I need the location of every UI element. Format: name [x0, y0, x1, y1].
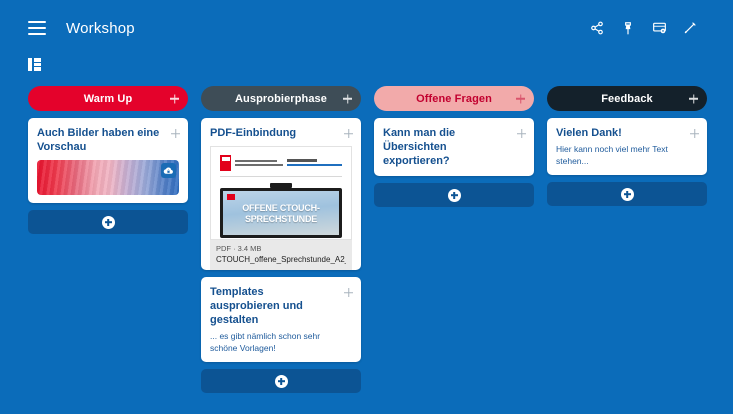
column-title: Warm Up [84, 93, 133, 105]
column-header-warm-up[interactable]: Warm Up [28, 86, 188, 111]
edit-pencil-icon[interactable] [681, 19, 699, 37]
move-icon[interactable] [517, 129, 526, 138]
card-title: Vielen Dank! [556, 126, 698, 140]
pdf-logo-row [220, 155, 342, 171]
card-image-preview[interactable] [37, 160, 179, 195]
share-icon[interactable] [588, 19, 606, 37]
move-icon[interactable] [689, 94, 698, 103]
add-card-button-offene-fragen[interactable] [374, 183, 534, 207]
pdf-preview-thumbnail[interactable]: OFFENE CTOUCH-SPRECHSTUNDE [210, 146, 352, 240]
column-title: Feedback [601, 93, 653, 105]
card-bilder-vorschau[interactable]: Auch Bilder haben eine Vorschau [28, 118, 188, 203]
topbar-actions [588, 19, 699, 37]
faculty-block [287, 155, 342, 166]
card-templates[interactable]: Templates ausprobieren und gestalten ...… [201, 277, 361, 362]
move-icon[interactable] [516, 94, 525, 103]
top-bar: Workshop [0, 0, 733, 56]
university-name [235, 155, 283, 166]
column-header-ausprobierphase[interactable]: Ausprobierphase [201, 86, 361, 111]
move-icon[interactable] [170, 94, 179, 103]
divider [220, 176, 342, 177]
display-screen: OFFENE CTOUCH-SPRECHSTUNDE [220, 188, 342, 238]
hamburger-line [28, 21, 46, 23]
board-view-icon-part [34, 67, 42, 71]
column-header-feedback[interactable]: Feedback [547, 86, 707, 111]
move-icon[interactable] [344, 288, 353, 297]
board-view-icon[interactable] [28, 58, 41, 71]
card-title: Auch Bilder haben eine Vorschau [37, 126, 179, 154]
camera-bar [270, 183, 292, 188]
add-card-button-warm-up[interactable] [28, 210, 188, 234]
board-column-warm-up: Warm Up Auch Bilder haben eine Vorschau [28, 86, 188, 414]
card-title: Kann man die Übersichten exportieren? [383, 126, 525, 168]
view-switcher [28, 58, 41, 71]
pdf-file-type-size: PDF · 3.4 MB [216, 244, 346, 254]
board-view-icon-part [28, 58, 32, 71]
plus-icon [621, 188, 634, 201]
hamburger-line [28, 27, 46, 29]
column-title: Offene Fragen [416, 93, 492, 105]
kanban-board: Warm Up Auch Bilder haben eine Vorschau [0, 86, 733, 414]
board-column-feedback: Feedback Vielen Dank! Hier kann noch vie… [547, 86, 707, 414]
column-header-offene-fragen[interactable]: Offene Fragen [374, 86, 534, 111]
app-root: Workshop [0, 0, 733, 414]
card-export-frage[interactable]: Kann man die Übersichten exportieren? [374, 118, 534, 176]
board-view-icon-part [34, 63, 42, 66]
move-icon[interactable] [171, 129, 180, 138]
pdf-file-name: CTOUCH_offene_Sprechstunde_A2_V03_druckf… [216, 254, 346, 265]
board-column-ausprobierphase: Ausprobierphase PDF-Einbindung [201, 86, 361, 414]
board-view-icon-part [34, 58, 42, 62]
card-title: Templates ausprobieren und gestalten [210, 285, 352, 327]
card-pdf-einbindung[interactable]: PDF-Einbindung [201, 118, 361, 270]
pdf-headline: OFFENE CTOUCH-SPRECHSTUNDE [223, 191, 339, 225]
pdf-hero-image: OFFENE CTOUCH-SPRECHSTUNDE [220, 183, 342, 238]
move-icon[interactable] [690, 129, 699, 138]
column-title: Ausprobierphase [235, 93, 327, 105]
hamburger-menu-icon[interactable] [28, 21, 46, 35]
pin-icon[interactable] [619, 19, 637, 37]
add-card-button-ausprobierphase[interactable] [201, 369, 361, 393]
cloud-lock-icon[interactable] [161, 163, 176, 178]
presentation-settings-icon[interactable] [650, 19, 668, 37]
university-logo [220, 155, 231, 171]
card-title: PDF-Einbindung [210, 126, 352, 140]
card-description: ... es gibt nämlich schon sehr schöne Vo… [210, 330, 352, 354]
screen-logo [227, 194, 235, 200]
hamburger-line [28, 33, 46, 35]
board-column-offene-fragen: Offene Fragen Kann man die Übersichten e… [374, 86, 534, 414]
move-icon[interactable] [344, 129, 353, 138]
plus-icon [102, 216, 115, 229]
move-icon[interactable] [343, 94, 352, 103]
card-vielen-dank[interactable]: Vielen Dank! Hier kann noch viel mehr Te… [547, 118, 707, 175]
pdf-page: OFFENE CTOUCH-SPRECHSTUNDE [211, 147, 351, 239]
pdf-file-meta: PDF · 3.4 MB CTOUCH_offene_Sprechstunde_… [210, 240, 352, 270]
card-description: Hier kann noch viel mehr Text stehen... [556, 143, 698, 167]
plus-icon [448, 189, 461, 202]
plus-icon [275, 375, 288, 388]
add-card-button-feedback[interactable] [547, 182, 707, 206]
page-title: Workshop [66, 20, 135, 37]
